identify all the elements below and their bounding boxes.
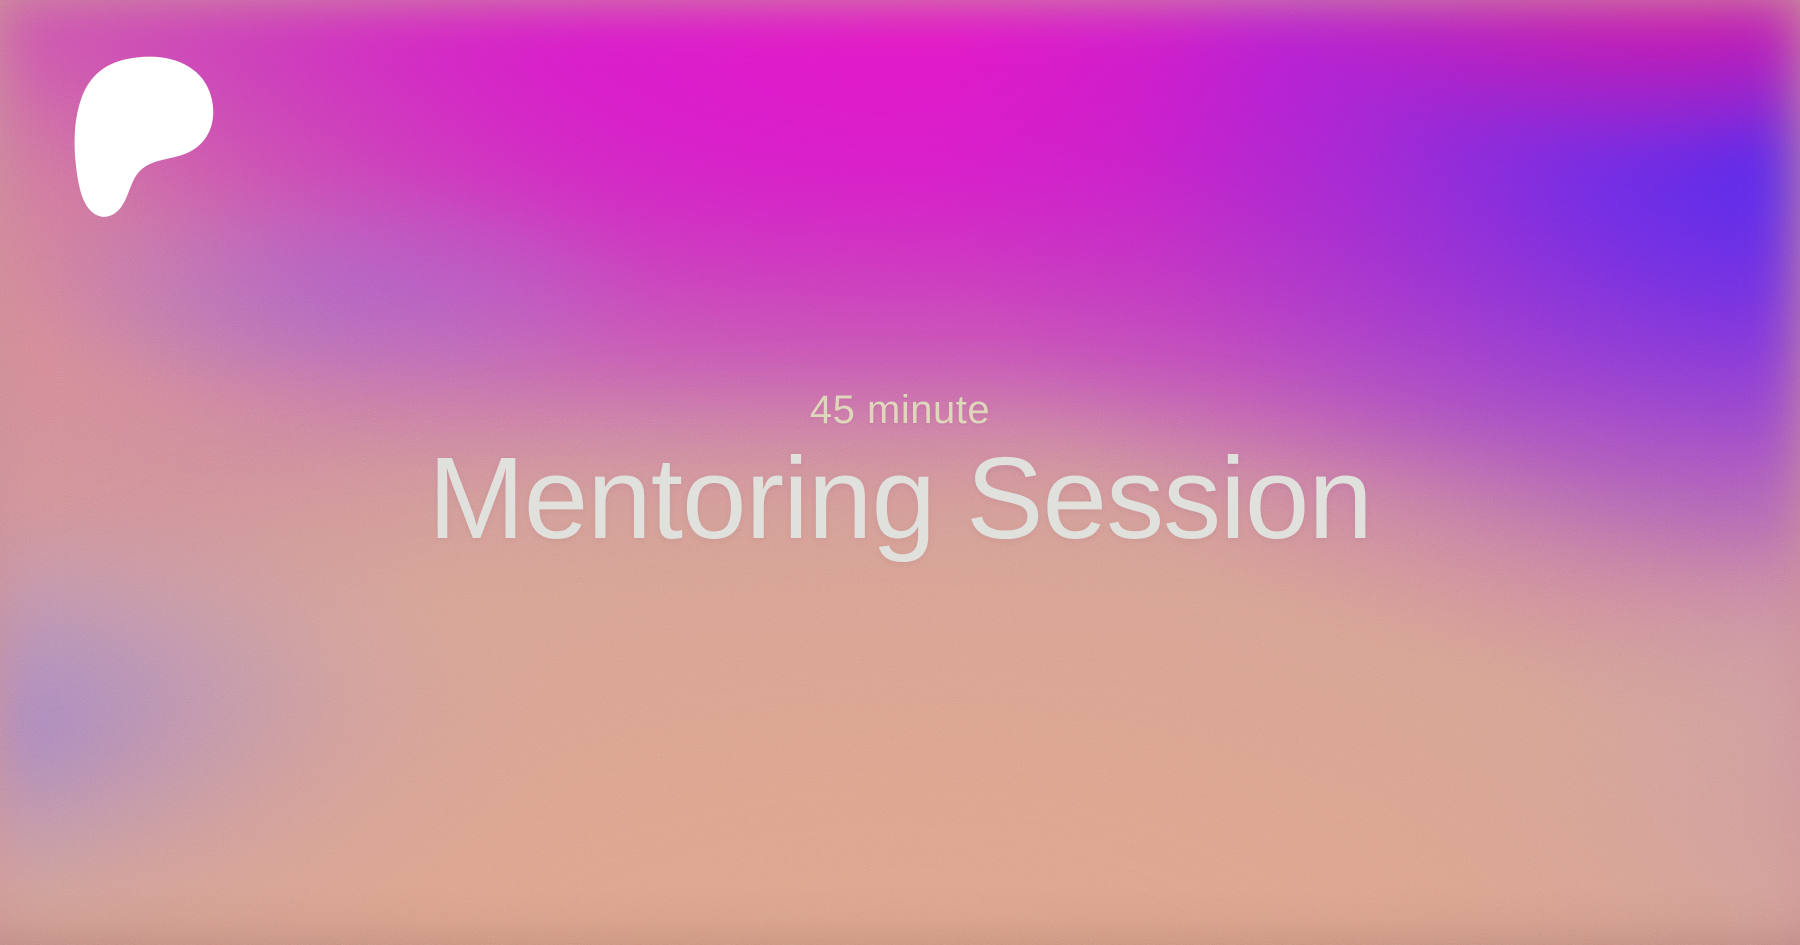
page-title: Mentoring Session xyxy=(428,440,1372,556)
patreon-p-blob-icon xyxy=(74,56,214,218)
brand-logo[interactable] xyxy=(74,56,214,218)
card-text-block: 45 minute Mentoring Session xyxy=(0,0,1800,945)
session-duration-label: 45 minute xyxy=(810,390,990,430)
mentoring-session-card: 45 minute Mentoring Session xyxy=(0,0,1800,945)
